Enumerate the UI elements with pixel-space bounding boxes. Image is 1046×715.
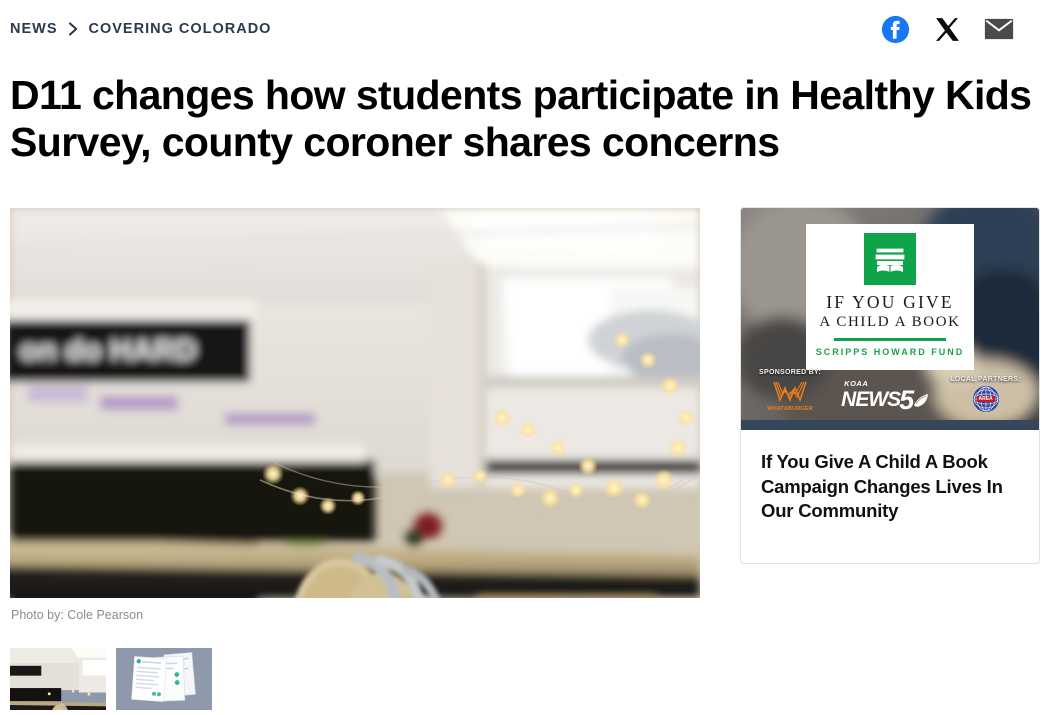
article-page: NEWS COVERING COLORADO (0, 0, 1046, 715)
breadcrumb-item-news[interactable]: NEWS (10, 21, 58, 37)
photo-credit: Photo by: Cole Pearson (11, 608, 143, 622)
breadcrumb: NEWS COVERING COLORADO (10, 21, 271, 37)
facebook-share-icon[interactable] (880, 14, 910, 44)
local-partner-globe-icon: AREA (973, 386, 999, 412)
share-buttons (880, 14, 1034, 44)
local-partners-block: LOCAL PARTNERS: (950, 376, 1021, 412)
sponsored-by-label: SPONSORED BY: (759, 369, 821, 376)
local-partners-label: LOCAL PARTNERS: (950, 376, 1021, 383)
sponsored-by-block: SPONSORED BY: WHATABURGER (759, 369, 821, 412)
article-hero-image[interactable]: on do HARD WHAT WE ARE LEMONS (10, 208, 700, 598)
image-thumbnail-strip (10, 648, 212, 710)
svg-text:on do HARD: on do HARD (20, 334, 197, 367)
promo-line-2: A CHILD A BOOK (819, 314, 960, 331)
article-topbar: NEWS COVERING COLORADO (0, 0, 1046, 58)
whataburger-logo-icon (771, 379, 809, 405)
breadcrumb-item-covering-colorado[interactable]: COVERING COLORADO (89, 21, 272, 37)
classroom-photograph: on do HARD WHAT WE ARE LEMONS (10, 208, 700, 598)
sidebar-promo-card[interactable]: IF YOU GIVE A CHILD A BOOK SCRIPPS HOWAR… (740, 207, 1040, 564)
whataburger-name: WHATABURGER (767, 406, 813, 412)
classroom-photo-thumbnail[interactable] (10, 648, 106, 710)
card-image-divider-bar (741, 420, 1039, 430)
promo-divider (834, 338, 946, 341)
if-you-give-a-child-a-book-logo: IF YOU GIVE A CHILD A BOOK SCRIPPS HOWAR… (806, 224, 974, 370)
sidebar-card-title[interactable]: If You Give A Child A Book Campaign Chan… (761, 450, 1019, 524)
survey-documents-thumbnail[interactable] (116, 648, 212, 710)
sidebar-card-text: If You Give A Child A Book Campaign Chan… (741, 430, 1039, 524)
chevron-right-icon (68, 22, 79, 36)
koaa-feather-icon (912, 392, 930, 408)
koaa-news-word: NEWS (841, 389, 900, 410)
local-partner-name: AREA (977, 396, 995, 402)
x-share-icon[interactable] (932, 14, 962, 44)
article-headline: D11 changes how students participate in … (10, 72, 1044, 165)
promo-line-1: IF YOU GIVE (826, 292, 954, 313)
koaa-news-5-logo: KOAA NEWS 5 (841, 379, 930, 412)
email-share-icon[interactable] (984, 14, 1014, 44)
book-stack-icon (864, 233, 916, 285)
sponsor-row: SPONSORED BY: WHATABURGER KOAA NEWS (741, 352, 1039, 414)
sidebar-promo-image: IF YOU GIVE A CHILD A BOOK SCRIPPS HOWAR… (741, 208, 1039, 430)
koaa-callsign: KOAA (844, 379, 868, 388)
